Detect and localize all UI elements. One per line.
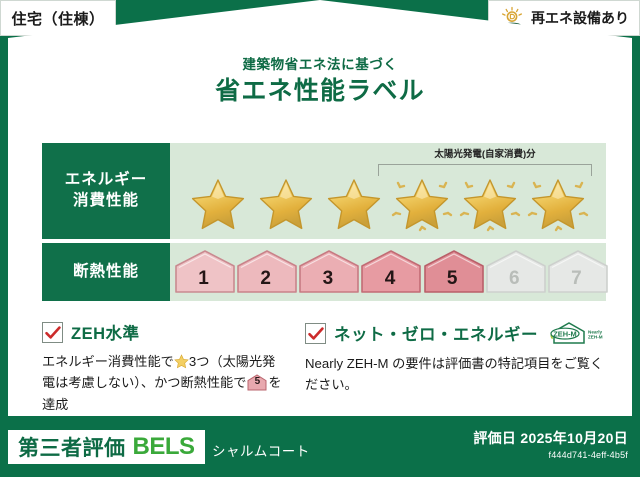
energy-label-line1: エネルギー — [65, 170, 148, 191]
energy-performance-rating: 太陽光発電(自家消費)分 — [170, 143, 606, 239]
energy-performance-row: エネルギー 消費性能 太陽光発電(自家消費)分 — [42, 143, 606, 239]
insulation-grade-value: 3 — [323, 268, 334, 295]
zeh-standard-description: エネルギー消費性能で3つ（太陽光発電は考慮しない）、かつ断熱性能で5を達成 — [42, 351, 287, 415]
insulation-grade-1: 1 — [174, 249, 233, 295]
evaluation-date: 評価日 2025年10月20日 — [473, 428, 628, 448]
star-2 — [254, 171, 318, 233]
house-grade-scale: 1234567 — [170, 243, 606, 301]
star-rating — [170, 169, 606, 235]
renewable-equipment-text: 再エネ設備あり — [531, 8, 629, 28]
insulation-grade-2: 2 — [236, 249, 295, 295]
insulation-label: 断熱性能 — [73, 262, 139, 283]
insulation-grade-value: 6 — [509, 268, 520, 295]
zeh-desc-part1: エネルギー消費性能で — [42, 354, 174, 369]
label-title-block: 建築物省エネ法に基づく 省エネ性能ラベル — [16, 58, 624, 105]
inline-house-grade-value: 5 — [247, 374, 267, 391]
inline-star-icon — [174, 354, 189, 369]
label-subtitle: 建築物省エネ法に基づく — [16, 58, 624, 73]
bels-badge: 第三者評価 BELS — [8, 430, 205, 464]
criterion-zeh-standard: ZEH水準 エネルギー消費性能で3つ（太陽光発電は考慮しない）、かつ断熱性能で5… — [42, 320, 287, 415]
star-6 — [526, 171, 590, 233]
insulation-performance-rating: 1234567 — [170, 243, 606, 301]
inline-house-grade-icon: 5 — [247, 374, 267, 391]
svg-text:ZEH-M: ZEH-M — [588, 335, 603, 340]
insulation-grade-value: 1 — [198, 268, 209, 295]
insulation-grade-value: 5 — [447, 268, 458, 295]
insulation-grade-value: 7 — [571, 268, 582, 295]
star-5 — [458, 171, 522, 233]
label-card: 建築物省エネ法に基づく 省エネ性能ラベル エネルギー 消費性能 太陽光発電(自家… — [8, 0, 632, 416]
criterion-zeh-header: ZEH水準 — [42, 320, 287, 344]
criterion-nze-header: ネット・ゼロ・エネルギー ZEH-M Nearly ZEH-M — [305, 320, 606, 346]
insulation-grade-value: 2 — [260, 268, 271, 295]
star-4 — [390, 171, 454, 233]
net-zero-energy-checkbox[interactable] — [305, 323, 326, 344]
dwelling-type-text: 住宅（住棟） — [11, 8, 104, 29]
bels-en-text: BELS — [133, 433, 195, 461]
insulation-grade-6: 6 — [485, 249, 544, 295]
star-3 — [322, 171, 386, 233]
energy-performance-label-panel: エネルギー 消費性能 — [42, 143, 170, 239]
footer: 第三者評価 BELS シャルムコート 評価日 2025年10月20日 f444d… — [0, 420, 640, 477]
zeh-m-badge-icon: ZEH-M Nearly ZEH-M — [548, 320, 606, 346]
insulation-grade-7: 7 — [547, 249, 606, 295]
svg-text:ZEH-M: ZEH-M — [553, 329, 576, 338]
energy-performance-label: 住宅（住棟） 再エネ設備あり 建築物省エネ法 — [0, 0, 640, 477]
zeh-standard-checkbox[interactable] — [42, 322, 63, 343]
label-title: 省エネ性能ラベル — [16, 78, 624, 106]
zeh-standard-title: ZEH水準 — [71, 320, 140, 344]
insulation-grade-value: 4 — [385, 268, 396, 295]
insulation-performance-row: 断熱性能 1234567 — [42, 243, 606, 301]
bels-jp-text: 第三者評価 — [18, 432, 126, 462]
evaluation-info: 評価日 2025年10月20日 f444d741-4eff-4b5f — [473, 428, 628, 460]
star-1 — [186, 171, 250, 233]
energy-label-line2: 消費性能 — [73, 191, 139, 212]
building-name: シャルムコート — [212, 440, 310, 460]
insulation-performance-label-panel: 断熱性能 — [42, 243, 170, 301]
insulation-grade-4: 4 — [360, 249, 419, 295]
insulation-grade-3: 3 — [298, 249, 357, 295]
label-card-inner: 建築物省エネ法に基づく 省エネ性能ラベル エネルギー 消費性能 太陽光発電(自家… — [16, 8, 624, 410]
criterion-net-zero-energy: ネット・ゼロ・エネルギー ZEH-M Nearly ZEH-M — [305, 320, 606, 415]
net-zero-energy-description: Nearly ZEH-M の要件は評価書の特記項目をご覧ください。 — [305, 353, 606, 396]
solar-note-text: 太陽光発電(自家消費)分 — [378, 146, 592, 160]
insulation-grade-5: 5 — [423, 249, 482, 295]
criteria-section: ZEH水準 エネルギー消費性能で3つ（太陽光発電は考慮しない）、かつ断熱性能で5… — [42, 320, 606, 415]
evaluation-id: f444d741-4eff-4b5f — [473, 450, 628, 460]
net-zero-energy-title: ネット・ゼロ・エネルギー — [334, 321, 538, 345]
performance-rows: エネルギー 消費性能 太陽光発電(自家消費)分 断熱性能 123 — [42, 143, 606, 305]
